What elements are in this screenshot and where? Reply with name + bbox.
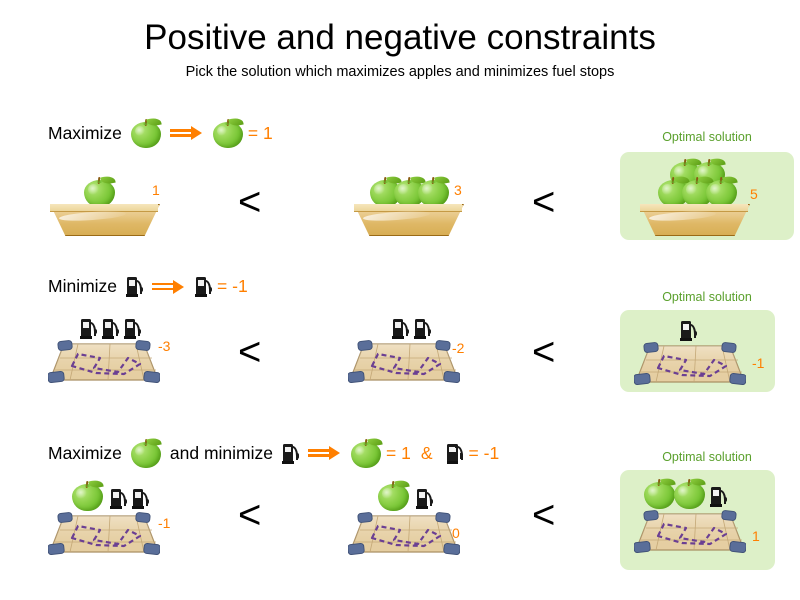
legend-row2-equals: = -1 xyxy=(217,276,248,297)
apple-icon xyxy=(418,176,449,207)
solution-row3-3[interactable] xyxy=(630,478,760,562)
route-map-icon xyxy=(348,512,460,558)
fuel-pump-icon xyxy=(132,488,149,509)
fuel-pump-icon xyxy=(110,488,127,509)
bowl-icon xyxy=(354,204,462,234)
less-than-icon: < xyxy=(238,182,261,222)
route-map-icon xyxy=(48,340,160,386)
solution-row1-2[interactable] xyxy=(352,172,482,238)
legend-row3: Maximize and minimize = 1 & = -1 xyxy=(48,438,499,468)
solution-row1-3[interactable] xyxy=(638,158,768,238)
apple-icon xyxy=(84,176,115,207)
page-title: Positive and negative constraints xyxy=(0,18,800,58)
fuel-pump-icon xyxy=(102,318,119,339)
bowl-icon xyxy=(50,204,158,234)
route-map-icon xyxy=(48,512,160,558)
score-row3-2: 0 xyxy=(452,525,460,541)
apple-icon xyxy=(213,118,243,148)
fuel-pump-icon xyxy=(80,318,97,339)
score-row2-2: -2 xyxy=(452,340,464,356)
legend-row1-equals: = 1 xyxy=(248,123,273,144)
less-than-icon: < xyxy=(238,495,261,535)
fuel-pump-icon xyxy=(447,443,464,464)
apple-icon xyxy=(131,118,161,148)
apple-icon xyxy=(351,438,381,468)
score-row3-3: 1 xyxy=(752,528,760,544)
legend-row3-equals2: = -1 xyxy=(469,443,500,464)
legend-row1: Maximize = 1 xyxy=(48,118,273,148)
less-than-icon: < xyxy=(532,332,555,372)
legend-row3-middle: and minimize xyxy=(170,443,273,464)
legend-row2: Minimize = -1 xyxy=(48,276,248,297)
fuel-pump-icon xyxy=(282,443,299,464)
apple-icon xyxy=(674,478,705,509)
less-than-icon: < xyxy=(532,495,555,535)
apple-icon xyxy=(378,480,409,511)
slide-root: Positive and negative constraints Pick t… xyxy=(0,0,800,600)
page-subtitle: Pick the solution which maximizes apples… xyxy=(0,64,800,80)
solution-row2-3[interactable] xyxy=(630,320,760,390)
optimal-solution-label-row3: Optimal solution xyxy=(617,450,797,464)
legend-row3-ampersand: & xyxy=(421,443,433,464)
score-row1-2: 3 xyxy=(454,182,462,198)
bowl-icon xyxy=(640,204,748,234)
less-than-icon: < xyxy=(532,182,555,222)
fuel-pump-icon xyxy=(414,318,431,339)
score-row3-1: -1 xyxy=(158,515,170,531)
score-row1-1: 1 xyxy=(152,182,160,198)
score-row2-3: -1 xyxy=(752,355,764,371)
fuel-pump-icon xyxy=(195,276,212,297)
fuel-pump-icon xyxy=(710,486,727,507)
fuel-pump-icon xyxy=(124,318,141,339)
implies-arrow-icon xyxy=(170,125,204,141)
route-map-icon xyxy=(634,342,746,388)
route-map-icon xyxy=(348,340,460,386)
legend-row3-equals: = 1 xyxy=(386,443,411,464)
fuel-pump-icon xyxy=(416,488,433,509)
apple-icon xyxy=(644,478,675,509)
fuel-pump-icon xyxy=(126,276,143,297)
score-row1-3: 5 xyxy=(750,186,758,202)
apple-icon xyxy=(131,438,161,468)
apple-icon xyxy=(72,480,103,511)
apple-icon xyxy=(706,176,737,207)
implies-arrow-icon xyxy=(308,445,342,461)
score-row2-1: -3 xyxy=(158,338,170,354)
legend-row2-prefix: Minimize xyxy=(48,276,117,297)
implies-arrow-icon xyxy=(152,279,186,295)
optimal-solution-label-row1: Optimal solution xyxy=(617,130,797,144)
fuel-pump-icon xyxy=(680,320,697,341)
solution-row3-2[interactable] xyxy=(348,480,478,560)
optimal-solution-label-row2: Optimal solution xyxy=(617,290,797,304)
legend-row3-prefix: Maximize xyxy=(48,443,122,464)
route-map-icon xyxy=(634,510,746,556)
fuel-pump-icon xyxy=(392,318,409,339)
less-than-icon: < xyxy=(238,332,261,372)
legend-row1-prefix: Maximize xyxy=(48,123,122,144)
